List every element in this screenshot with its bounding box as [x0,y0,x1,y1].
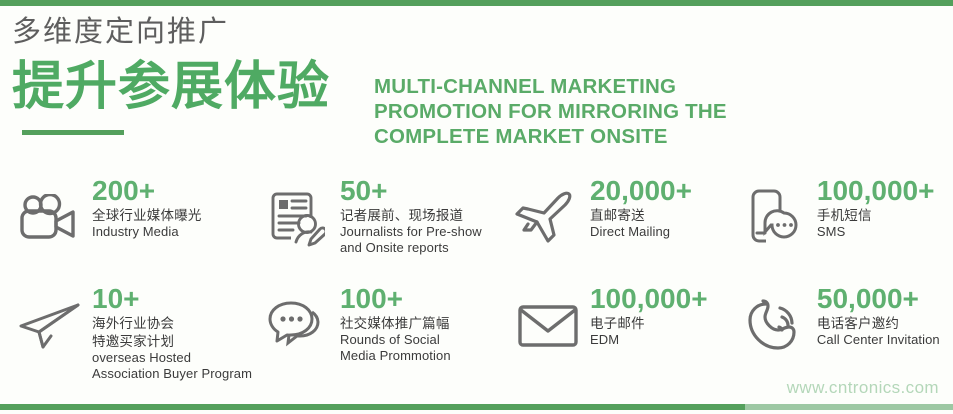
bottom-accent-bar [0,404,745,410]
headline-underline-rule [22,130,124,135]
stat-label-en-line: Direct Mailing [590,224,731,240]
stat-item-hosted-buyer-program: 10+ 海外行业协会 特邀买家计划 overseas Hosted Associ… [0,280,256,384]
video-camera-icon [14,182,86,254]
stat-label-en: Call Center Invitation [817,332,953,348]
stat-label-en-line: Media Prommotion [340,348,502,364]
stat-label-cn: 特邀买家计划 [92,333,256,350]
stat-label-en-line: Rounds of Social [340,332,502,348]
stat-number: 100+ [340,284,502,314]
stat-text: 50+ 记者展前、现场报道 Journalists for Pre-show a… [340,172,502,256]
stat-label-en: Journalists for Pre-show and Onsite repo… [340,224,502,256]
stat-item-industry-media: 200+ 全球行业媒体曝光 Industry Media [0,172,256,276]
stat-item-edm: 100,000+ 电子邮件 EDM [502,280,731,384]
airplane-icon [512,182,584,254]
stat-label-cn: 直邮寄送 [590,207,731,224]
stat-number: 50,000+ [817,284,953,314]
stat-label-en: Industry Media [92,224,256,240]
stat-number: 100,000+ [590,284,731,314]
top-accent-bar [0,0,953,6]
stat-number: 50+ [340,176,502,206]
stat-text: 200+ 全球行业媒体曝光 Industry Media [92,172,256,240]
mobile-sms-icon [739,182,811,254]
stat-label-cn: 电子邮件 [590,315,731,332]
stat-label-cn: 记者展前、现场报道 [340,207,502,224]
stat-text: 50,000+ 电话客户邀约 Call Center Invitation [817,280,953,348]
headline-english-line-3: COMPLETE MARKET ONSITE [374,124,794,149]
bottom-accent-bar-light [745,404,953,410]
stat-item-direct-mailing: 20,000+ 直邮寄送 Direct Mailing [502,172,731,276]
paper-plane-icon [14,290,86,362]
stat-label-en: SMS [817,224,953,240]
stat-label-en-line: overseas Hosted [92,350,256,366]
stat-label-en-line: Association Buyer Program [92,366,256,382]
stat-number: 10+ [92,284,256,314]
stat-label-en-line: SMS [817,224,953,240]
stat-label-en-line: Journalists for Pre-show [340,224,502,240]
envelope-icon [512,290,584,362]
stat-item-sms: 100,000+ 手机短信 SMS [731,172,953,276]
stat-label-en: overseas Hosted Association Buyer Progra… [92,350,256,382]
stat-label-en: Rounds of Social Media Prommotion [340,332,502,364]
stat-text: 10+ 海外行业协会 特邀买家计划 overseas Hosted Associ… [92,280,256,382]
stat-text: 100+ 社交媒体推广篇幅 Rounds of Social Media Pro… [340,280,502,364]
kicker-text: 多维度定向推广 [12,12,372,52]
stat-number: 200+ [92,176,256,206]
stat-label-cn: 社交媒体推广篇幅 [340,315,502,332]
stat-text: 20,000+ 直邮寄送 Direct Mailing [590,172,731,240]
stats-row-2: 10+ 海外行业协会 特邀买家计划 overseas Hosted Associ… [0,280,953,384]
stat-text: 100,000+ 手机短信 SMS [817,172,953,240]
stat-item-call-center: 50,000+ 电话客户邀约 Call Center Invitation [731,280,953,384]
headline-english: MULTI-CHANNEL MARKETING PROMOTION FOR MI… [374,74,794,149]
headline-chinese: 提升参展体验 [12,56,372,118]
stat-item-journalists: 50+ 记者展前、现场报道 Journalists for Pre-show a… [256,172,502,276]
stats-grid: 200+ 全球行业媒体曝光 Industry Media [0,172,953,390]
stat-number: 100,000+ [817,176,953,206]
chat-bubble-icon [262,290,334,362]
stats-row-1: 200+ 全球行业媒体曝光 Industry Media [0,172,953,276]
stat-number: 20,000+ [590,176,731,206]
headline-english-line-2: PROMOTION FOR MIRRORING THE [374,99,794,124]
headline-english-line-1: MULTI-CHANNEL MARKETING [374,74,794,99]
stat-label-cn: 手机短信 [817,207,953,224]
stat-item-social-media: 100+ 社交媒体推广篇幅 Rounds of Social Media Pro… [256,280,502,384]
stat-label-cn: 全球行业媒体曝光 [92,207,256,224]
infographic-poster: 多维度定向推广 提升参展体验 MULTI-CHANNEL MARKETING P… [0,0,953,414]
reporter-document-icon [262,182,334,254]
stat-label-en: Direct Mailing [590,224,731,240]
stat-label-cn: 海外行业协会 [92,315,256,332]
site-watermark: www.cntronics.com [787,378,939,398]
stat-label-en: EDM [590,332,731,348]
stat-label-en-line: and Onsite reports [340,240,502,256]
stat-label-en-line: Industry Media [92,224,256,240]
stat-label-en-line: EDM [590,332,731,348]
stat-text: 100,000+ 电子邮件 EDM [590,280,731,348]
header: 多维度定向推广 提升参展体验 MULTI-CHANNEL MARKETING P… [0,12,953,167]
phone-call-icon [739,290,811,362]
header-left: 多维度定向推广 提升参展体验 [12,12,372,135]
stat-label-cn: 电话客户邀约 [817,315,953,332]
stat-label-en-line: Call Center Invitation [817,332,953,348]
